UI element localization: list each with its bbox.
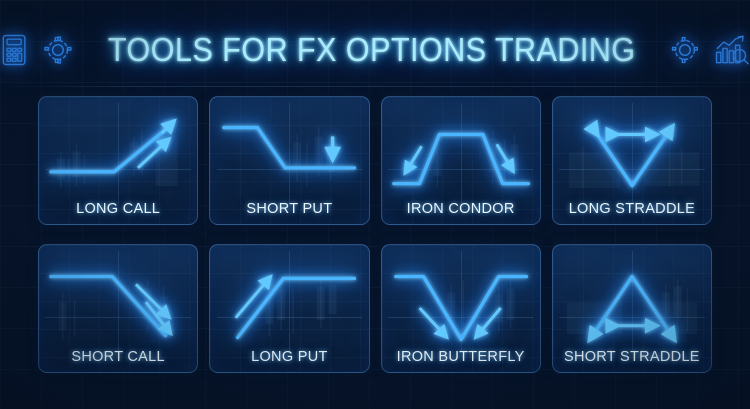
- strategy-card-iron-butterfly[interactable]: IRON BUTTERFLY: [381, 244, 541, 373]
- strategy-card-iron-condor[interactable]: IRON CONDOR: [381, 96, 541, 225]
- strategy-card-short-put[interactable]: SHORT PUT: [209, 96, 369, 225]
- strategy-card-grid: LONG CALL S: [38, 96, 712, 373]
- strategy-label: LONG STRADDLE: [553, 201, 711, 217]
- header: TOOLS FOR FX OPTIONS TRADING: [0, 20, 750, 80]
- strategy-label: SHORT STRADDLE: [553, 349, 711, 365]
- gear-icon: [670, 31, 700, 69]
- strategy-label: SHORT CALL: [39, 349, 197, 365]
- gear-icon: [43, 31, 73, 69]
- strategy-card-short-call[interactable]: SHORT CALL: [38, 244, 198, 373]
- strategy-card-short-straddle[interactable]: SHORT STRADDLE: [552, 244, 712, 373]
- chart-search-icon: [715, 30, 750, 70]
- strategy-card-long-straddle[interactable]: LONG STRADDLE: [552, 96, 712, 225]
- calculator-icon: [0, 30, 28, 70]
- strategy-label: LONG PUT: [210, 349, 368, 365]
- page-root: TOOLS FOR FX OPTIONS TRADING: [0, 0, 750, 409]
- background-divider-line: [0, 86, 750, 87]
- strategy-label: IRON CONDOR: [382, 201, 540, 217]
- strategy-label: IRON BUTTERFLY: [382, 349, 540, 365]
- strategy-label: SHORT PUT: [210, 201, 368, 217]
- strategy-card-long-put[interactable]: LONG PUT: [209, 244, 369, 373]
- page-title: TOOLS FOR FX OPTIONS TRADING: [108, 31, 636, 69]
- strategy-card-long-call[interactable]: LONG CALL: [38, 96, 198, 225]
- strategy-label: LONG CALL: [39, 201, 197, 217]
